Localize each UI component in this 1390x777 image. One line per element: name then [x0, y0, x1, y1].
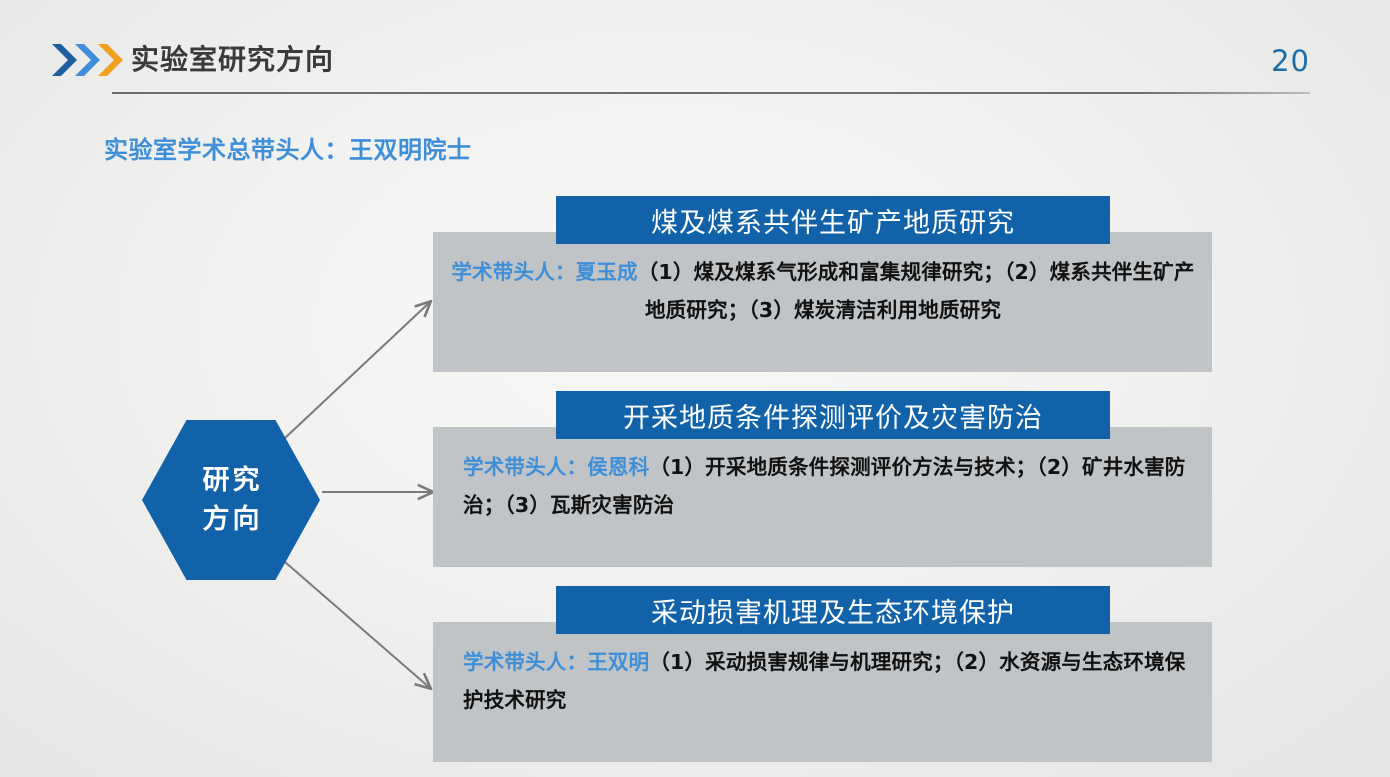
panel-3-lead: 学术带头人：王双明 — [463, 650, 649, 674]
arrow-to-panel-3 — [285, 562, 430, 688]
header-divider — [112, 92, 1310, 94]
panel-3-title: 采动损害机理及生态环境保护 — [556, 586, 1110, 634]
research-directions-hexagon[interactable]: 研究 方向 — [142, 420, 320, 580]
arrow-to-panel-1 — [285, 302, 430, 438]
hexagon-label-line1: 研究 — [200, 461, 263, 500]
panel-1-lead: 学术带头人：夏玉成 — [451, 260, 637, 284]
panel-3-text: 学术带头人：王双明（1）采动损害规律与机理研究；（2）水资源与生态环境保护技术研… — [463, 644, 1193, 720]
subtitle-text: 实验室学术总带头人：王双明院士 — [104, 130, 472, 165]
slide-canvas: 实验室研究方向 20 实验室学术总带头人：王双明院士 研究 方向 煤及煤系共伴生… — [0, 0, 1390, 777]
page-number: 20 — [1271, 44, 1310, 78]
panel-2-lead: 学术带头人：侯恩科 — [463, 455, 649, 479]
hexagon-label: 研究 方向 — [142, 420, 320, 580]
chevron-right-icon-1 — [52, 44, 77, 76]
chevron-right-icon-3 — [98, 44, 123, 76]
research-panel-2: 开采地质条件探测评价及灾害防治 学术带头人：侯恩科（1）开采地质条件探测评价方法… — [433, 427, 1212, 567]
page-title: 实验室研究方向 — [131, 38, 334, 78]
research-panel-3: 采动损害机理及生态环境保护 学术带头人：王双明（1）采动损害规律与机理研究；（2… — [433, 622, 1212, 762]
panel-2-title: 开采地质条件探测评价及灾害防治 — [556, 391, 1110, 439]
panel-2-text: 学术带头人：侯恩科（1）开采地质条件探测评价方法与技术；（2）矿井水害防治；（3… — [463, 449, 1193, 525]
chevron-right-icon-2 — [75, 44, 100, 76]
panel-1-text: 学术带头人：夏玉成（1）煤及煤系气形成和富集规律研究；（2）煤系共伴生矿产地质研… — [451, 254, 1195, 330]
panel-1-title: 煤及煤系共伴生矿产地质研究 — [556, 196, 1110, 244]
chevron-group-icon — [50, 41, 122, 79]
chevrons-svg — [50, 41, 130, 79]
hexagon-label-line2: 方向 — [200, 500, 263, 539]
panel-1-body: （1）煤及煤系气形成和富集规律研究；（2）煤系共伴生矿产地质研究；（3）煤炭清洁… — [638, 260, 1195, 322]
research-panel-1: 煤及煤系共伴生矿产地质研究 学术带头人：夏玉成（1）煤及煤系气形成和富集规律研究… — [433, 232, 1212, 372]
